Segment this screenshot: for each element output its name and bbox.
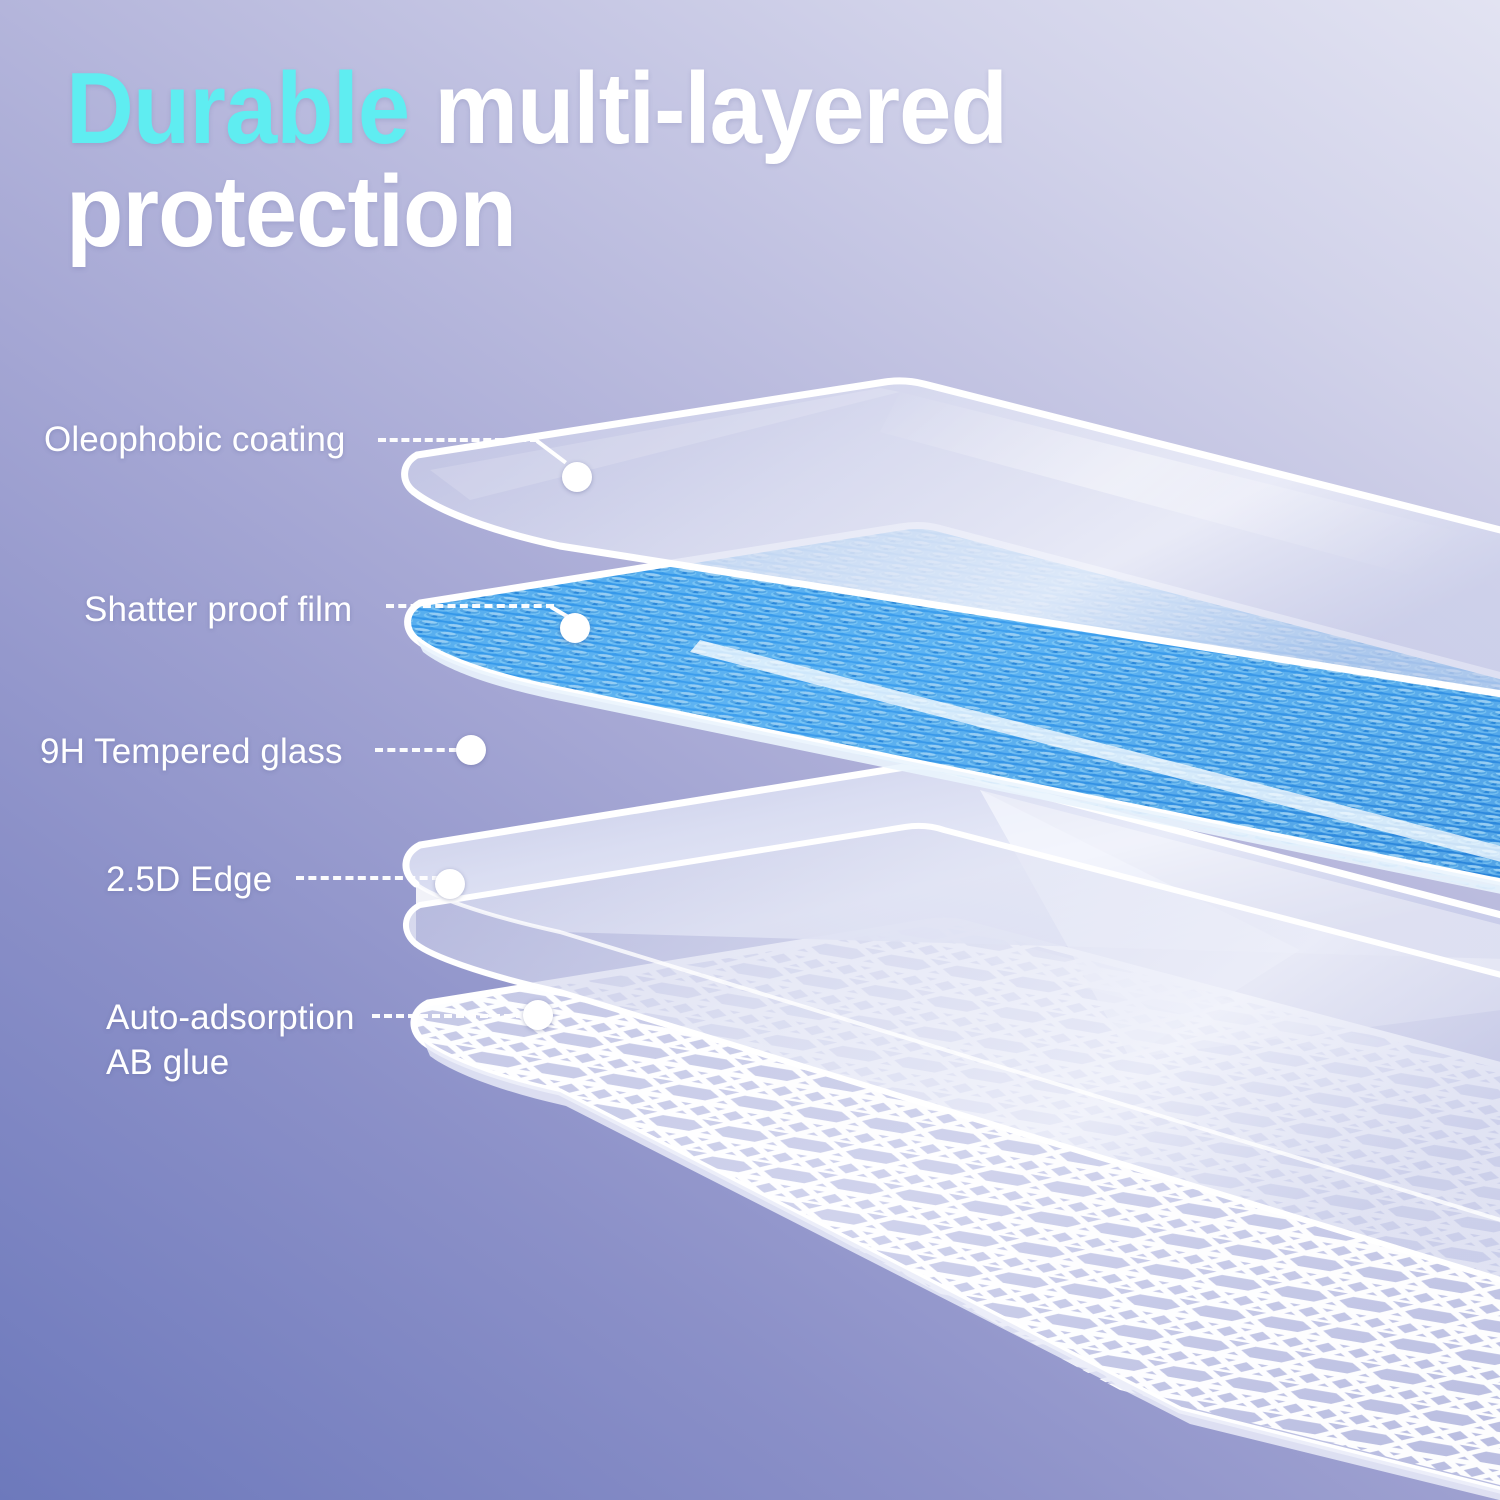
callout-label-ab-glue: Auto-adsorption AB glue xyxy=(106,996,355,1086)
leader-line-shatter-proof-film xyxy=(386,604,554,608)
callout-label-25d-edge: 2.5D Edge xyxy=(106,858,272,903)
page-title: Durable multi-layered protection xyxy=(66,58,1163,264)
leader-line-25d-edge xyxy=(296,876,440,880)
callout-label-shatter-proof-film: Shatter proof film xyxy=(84,588,352,633)
callout-dot-25d-edge xyxy=(435,869,465,899)
callout-dot-tempered-glass xyxy=(456,735,486,765)
callout-label-oleophobic: Oleophobic coating xyxy=(44,418,345,463)
title-accent-word: Durable xyxy=(66,53,409,165)
callout-dot-shatter-proof-film xyxy=(560,613,590,643)
leader-line-ab-glue xyxy=(372,1014,524,1018)
callout-dot-ab-glue xyxy=(523,1000,553,1030)
callout-label-tempered-glass: 9H Tempered glass xyxy=(40,730,343,775)
callout-dot-oleophobic xyxy=(562,462,592,492)
leader-line-tempered-glass xyxy=(375,748,457,752)
leader-line-oleophobic xyxy=(378,438,538,442)
infographic-canvas: Durable multi-layered protection Oleopho… xyxy=(0,0,1500,1500)
